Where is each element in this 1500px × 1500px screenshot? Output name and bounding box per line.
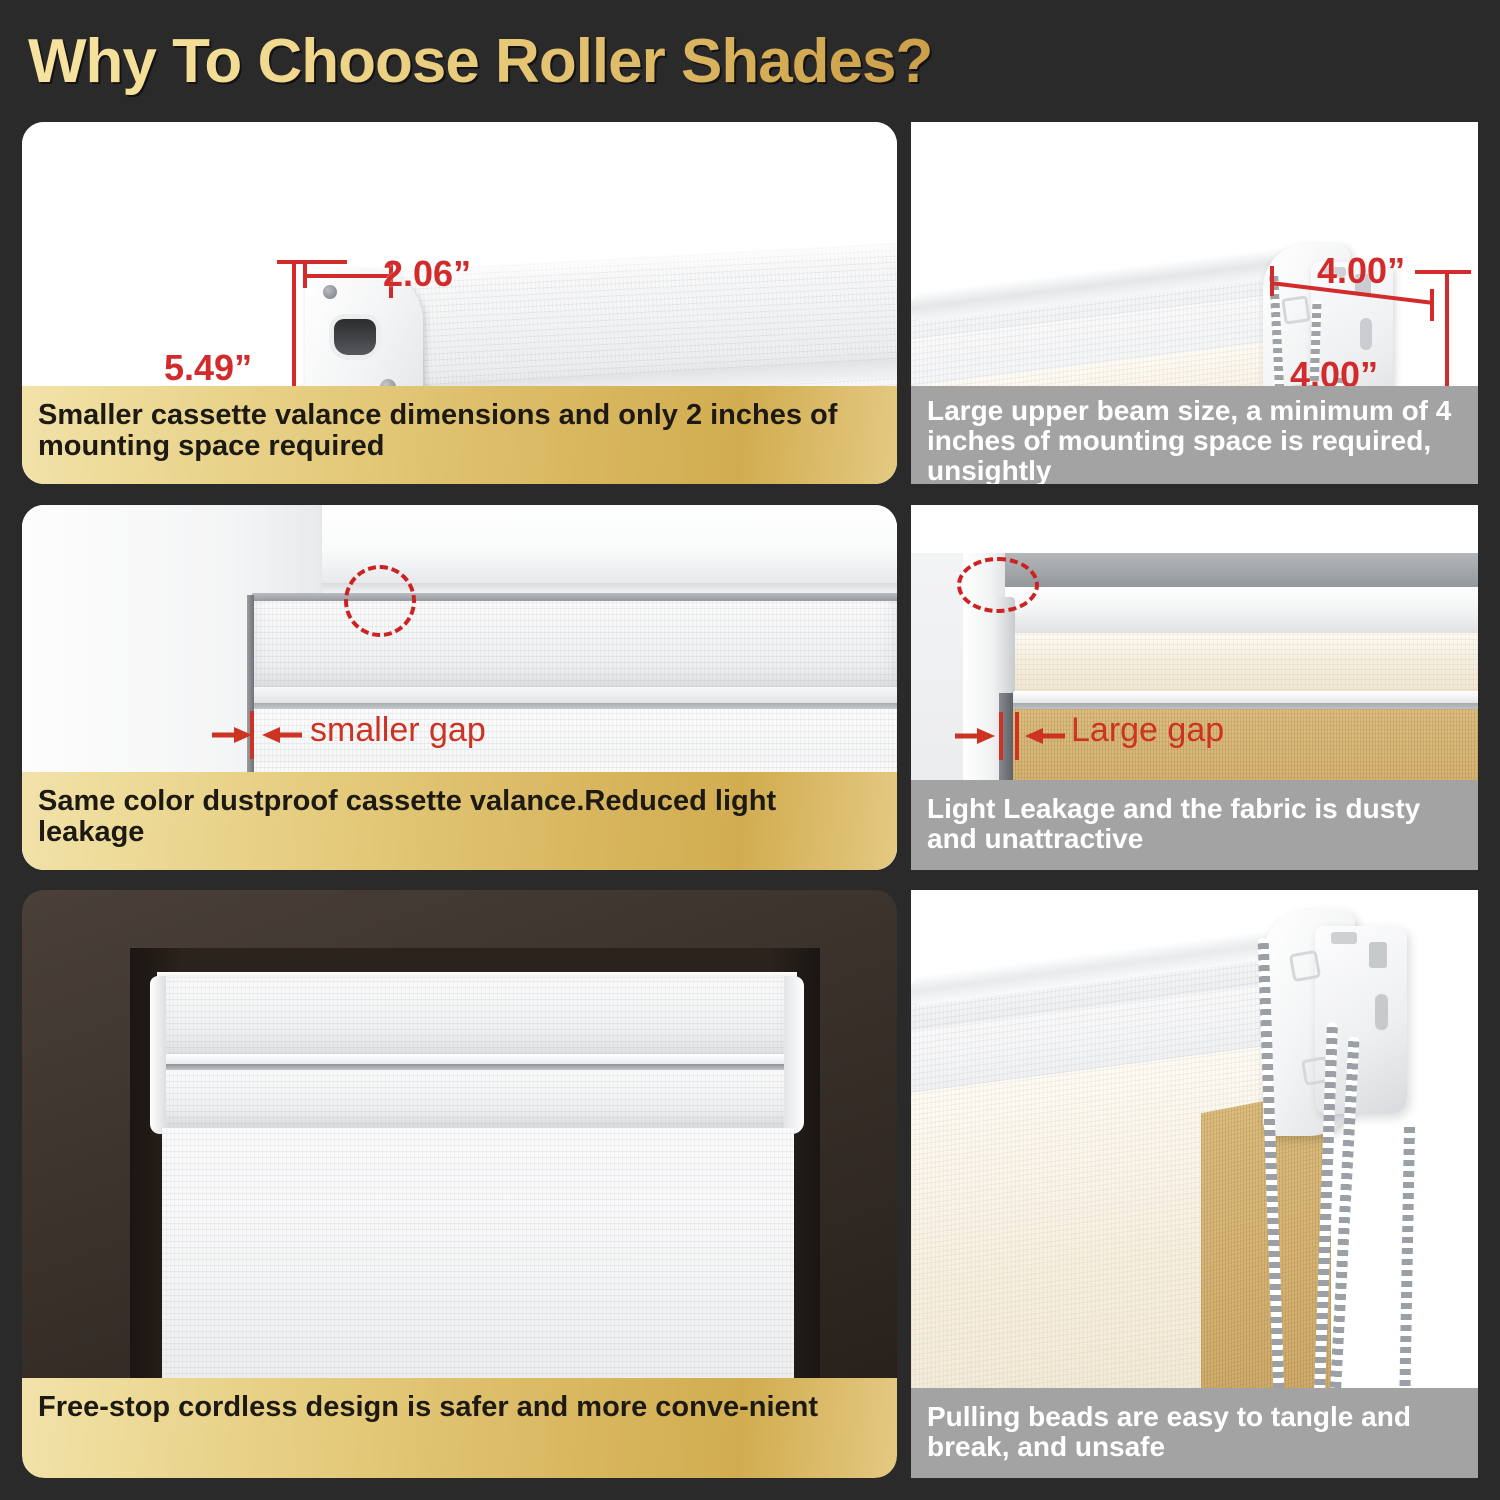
page-title: Why To Choose Roller Shades?	[28, 22, 1128, 102]
panel-top-left[interactable]: 2.06” 5.49” Smaller cassette valance dim…	[22, 122, 897, 484]
beam-width-tick-right	[1430, 289, 1434, 321]
caption-top-left: Smaller cassette valance dimensions and …	[22, 386, 897, 484]
highlight-circle	[344, 565, 416, 637]
smaller-gap-label: smaller gap	[310, 711, 486, 750]
gap-arrow-left-icon	[212, 723, 254, 747]
caption-middle-right: Light Leakage and the fabric is dusty an…	[911, 780, 1478, 870]
beam-height-tick-top	[1415, 270, 1471, 274]
gap-marker-tick	[250, 711, 254, 759]
width-dimension-line	[303, 274, 393, 278]
large-gap-label: Large gap	[1071, 711, 1224, 750]
height-dimension-label: 5.49”	[164, 347, 252, 389]
panel-top-right[interactable]: 4.00” 4.00” Large upper beam size, a min…	[911, 122, 1478, 484]
height-dimension-tick-top	[277, 260, 347, 264]
gap-arrow-right-icon	[260, 723, 302, 747]
gap-arrow-left-icon	[955, 724, 997, 748]
panel-middle-right[interactable]: Large gap Light Leakage and the fabric i…	[911, 505, 1478, 870]
caption-bottom-right: Pulling beads are easy to tangle and bre…	[911, 1388, 1478, 1478]
highlight-circle	[957, 557, 1039, 613]
gap-arrow-right-icon	[1023, 724, 1065, 748]
panel-bottom-left[interactable]: Free-stop cordless design is safer and m…	[22, 890, 897, 1478]
caption-bottom-left: Free-stop cordless design is safer and m…	[22, 1378, 897, 1478]
gap-marker-tick	[1015, 712, 1019, 760]
beam-width-tick-left	[1270, 266, 1274, 296]
width-dimension-label: 2.06”	[383, 253, 471, 295]
width-dimension-tick-left	[303, 262, 307, 288]
caption-middle-left: Same color dustproof cassette valance.Re…	[22, 772, 897, 870]
caption-top-right: Large upper beam size, a minimum of 4 in…	[911, 386, 1478, 484]
panel-bottom-right[interactable]: Pulling beads are easy to tangle and bre…	[911, 890, 1478, 1478]
gap-marker-tick	[999, 712, 1003, 760]
beam-width-dimension-label: 4.00”	[1317, 250, 1405, 292]
panel-middle-left[interactable]: smaller gap Same color dustproof cassett…	[22, 505, 897, 870]
